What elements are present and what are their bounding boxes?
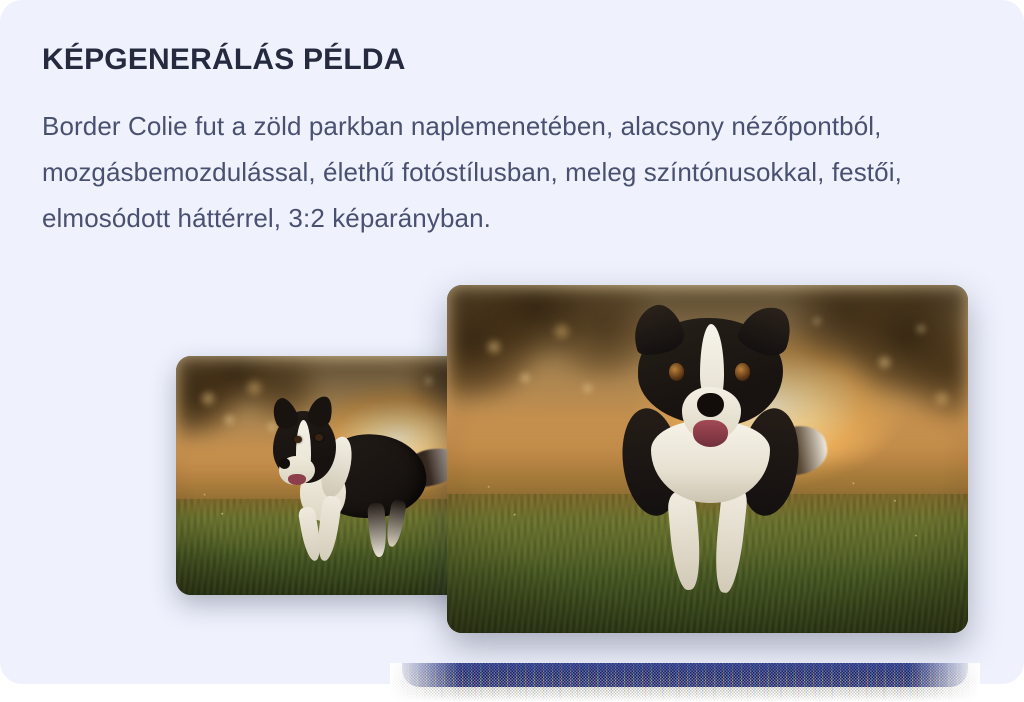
page-title: KÉPGENERÁLÁS PÉLDA (42, 42, 992, 78)
noise-fade-right (910, 663, 980, 702)
example-card: KÉPGENERÁLÁS PÉLDA Border Colie fut a zö… (0, 0, 1024, 684)
noise-fade-left (390, 663, 460, 702)
noise-dither (390, 663, 980, 702)
gallery-image-border-collie-running-front[interactable] (447, 285, 968, 633)
bottom-noise-band (390, 663, 980, 702)
text-block: KÉPGENERÁLÁS PÉLDA Border Colie fut a zö… (42, 42, 992, 241)
prompt-description: Border Colie fut a zöld parkban naplemen… (42, 78, 987, 241)
sunset-park-scene (447, 285, 968, 633)
photo-vignette (447, 285, 968, 633)
